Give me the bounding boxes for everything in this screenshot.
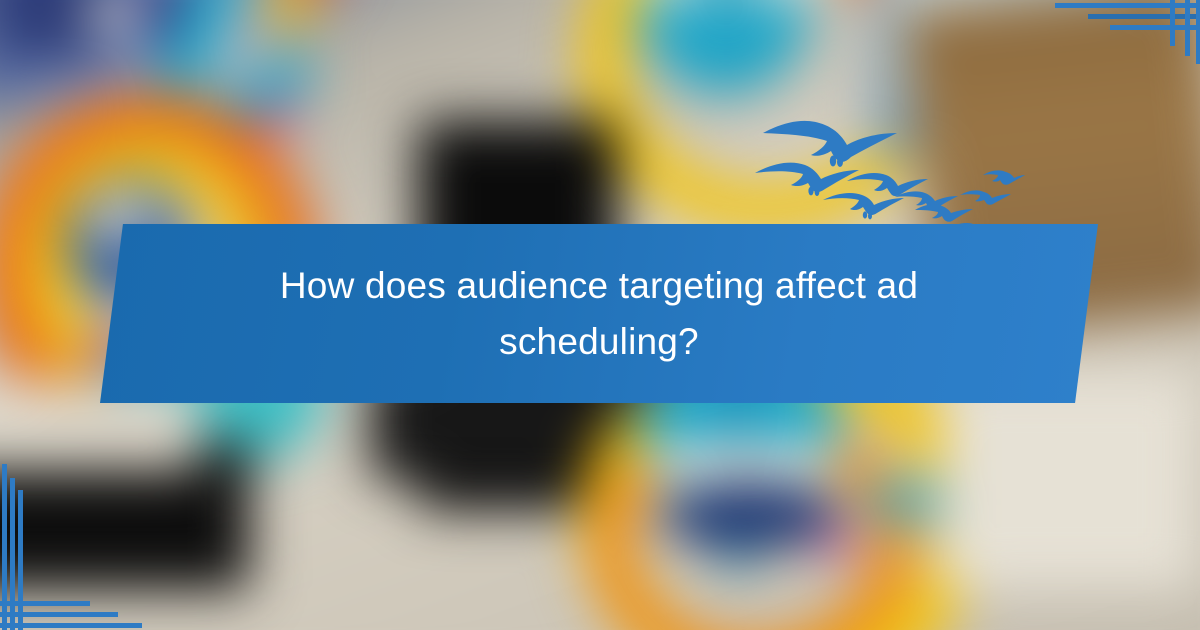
paper-bottomright [940, 370, 1200, 590]
deco-v-line-3 [1170, 0, 1175, 46]
headline-line-2: scheduling? [499, 314, 699, 370]
deco-v-line-6 [18, 490, 23, 630]
deco-h-line-2 [1088, 14, 1200, 19]
deco-h-line-1 [1055, 3, 1200, 8]
bottom-navy-bowl [660, 480, 840, 550]
headline-line-1: How does audience targeting affect ad [280, 258, 918, 314]
bottom-pink-dot [820, 525, 856, 557]
deco-v-line-5 [10, 478, 15, 630]
chip-magenta [258, 100, 292, 134]
banner-text-block: How does audience targeting affect ad sc… [100, 224, 1098, 403]
chip-yellow [270, 0, 310, 24]
poster-topleft-white [90, 0, 132, 31]
flying-birds-icon [755, 105, 1025, 235]
art-blue-stem [712, 0, 742, 90]
bottom-white-band [652, 445, 832, 485]
deco-v-line-1 [1196, 0, 1200, 64]
deco-v-line-4 [2, 464, 7, 630]
headline-banner: How does audience targeting affect ad sc… [100, 224, 1098, 403]
deco-v-line-2 [1185, 0, 1190, 56]
promo-card: How does audience targeting affect ad sc… [0, 0, 1200, 630]
